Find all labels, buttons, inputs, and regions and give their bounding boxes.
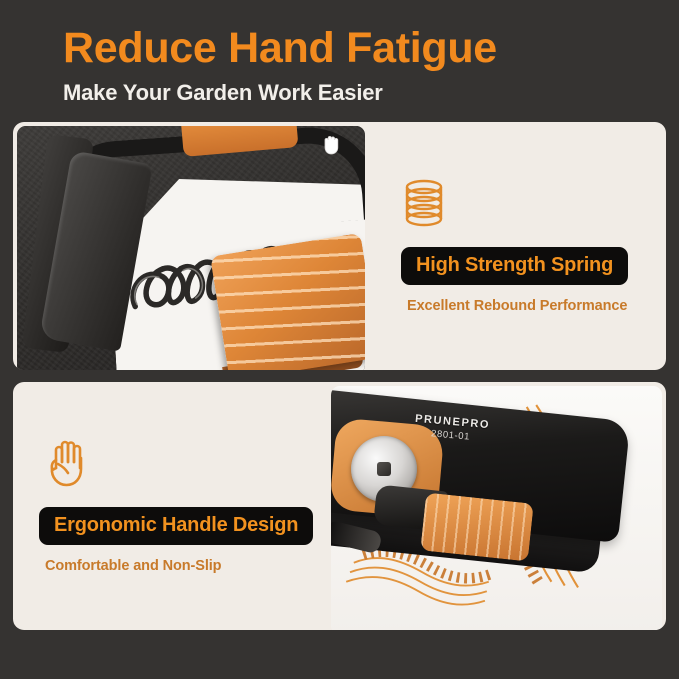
page-title: Reduce Hand Fatigue — [63, 26, 666, 71]
feature-title-handle: Ergonomic Handle Design — [39, 507, 313, 545]
product-feature-graphic: Reduce Hand Fatigue Make Your Garden Wor… — [0, 0, 679, 679]
header: Reduce Hand Fatigue Make Your Garden Wor… — [13, 0, 666, 106]
pruner-handle-photo: PRUNEPRO 2801-01 — [331, 386, 662, 630]
orange-ribbed-pad — [210, 233, 365, 370]
feature-text-spring: High Strength Spring Excellent Rebound P… — [365, 122, 666, 370]
orange-grip — [421, 493, 534, 562]
page-subtitle: Make Your Garden Work Easier — [63, 80, 666, 106]
feature-panel-spring: High Strength Spring Excellent Rebound P… — [13, 122, 666, 370]
open-hand-icon — [39, 438, 313, 495]
feature-subtitle-handle: Comfortable and Non-Slip — [39, 558, 313, 574]
feature-text-handle: Ergonomic Handle Design Comfortable and … — [13, 382, 331, 630]
feature-title-spring: High Strength Spring — [401, 247, 628, 285]
feature-panel-handle: Ergonomic Handle Design Comfortable and … — [13, 382, 666, 630]
feature-subtitle-spring: Excellent Rebound Performance — [401, 298, 648, 314]
spring-coil-icon — [401, 178, 648, 233]
hand-cursor-icon — [319, 132, 345, 158]
spring-mechanism-photo — [17, 126, 365, 370]
